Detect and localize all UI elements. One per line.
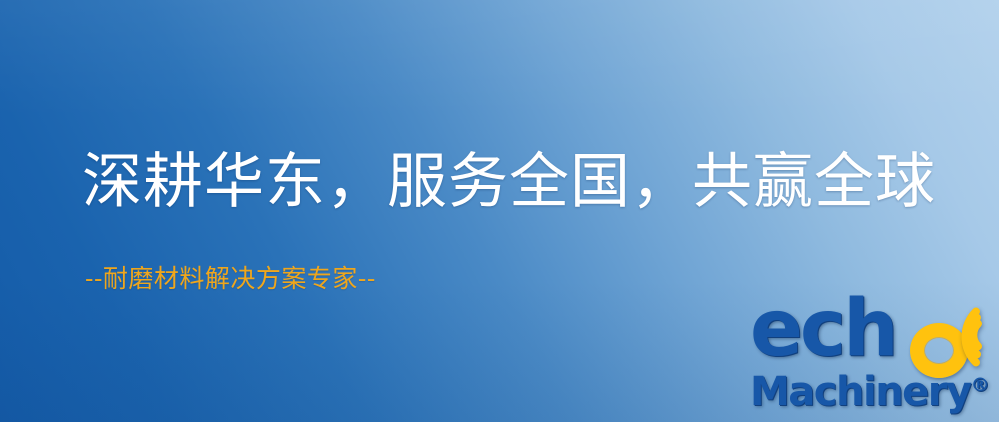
banner-subtitle: --耐磨材料解决方案专家-- (85, 266, 376, 291)
banner-headline: 深耕华东，服务全国，共赢全球 (82, 152, 936, 212)
logo-wordmark: ech (748, 296, 998, 378)
registered-trademark-icon: ® (971, 374, 990, 396)
logo-machinery-word: Machinery (750, 369, 971, 415)
logo-echo-text: ech (750, 290, 896, 368)
signal-waves-icon (948, 299, 999, 361)
logo-machinery-text: Machinery® (750, 372, 990, 412)
echo-machinery-logo: ech Machinery® (748, 296, 998, 422)
promo-banner: 深耕华东，服务全国，共赢全球 --耐磨材料解决方案专家-- ech Machin… (0, 0, 999, 422)
